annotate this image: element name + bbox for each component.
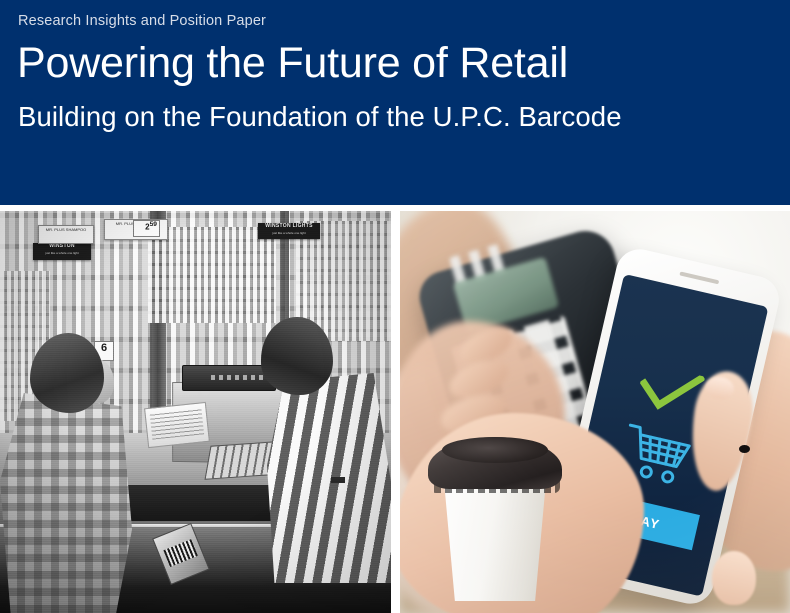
- header-banner: Research Insights and Position Paper Pow…: [0, 0, 790, 205]
- mobile-payment-photo-base: PAY: [400, 211, 790, 613]
- document-cover-page: Research Insights and Position Paper Pow…: [0, 0, 790, 613]
- cover-photo-strip: WINSTONjust like a whole one light WINST…: [0, 211, 790, 613]
- coffee-cup-sip-hole: [739, 445, 750, 453]
- phone-earpiece: [679, 271, 719, 284]
- clerk-hair: [261, 317, 333, 395]
- shopper-figure: [0, 393, 132, 613]
- eyebrow-label: Research Insights and Position Paper: [18, 13, 266, 29]
- cigarette-rack: [148, 227, 276, 323]
- receipt-paper: [144, 402, 210, 448]
- clerk-figure: [267, 373, 391, 583]
- vintage-photo-base: WINSTONjust like a whole one light WINST…: [0, 211, 391, 613]
- clerk-name-badge: [331, 477, 345, 483]
- photo-vintage-checkout: WINSTONjust like a whole one light WINST…: [0, 211, 391, 613]
- price-tag: 259: [133, 220, 160, 237]
- cup-holding-finger: [712, 551, 756, 605]
- coffee-cup-lid-top: [442, 437, 548, 463]
- sign-winston-lights-2: WINSTON LIGHTSjust like a whole one ligh…: [258, 223, 320, 239]
- sign-winston-lights: WINSTONjust like a whole one light: [33, 243, 91, 260]
- photo-mobile-payment: PAY: [400, 211, 790, 613]
- page-title: Powering the Future of Retail: [17, 40, 568, 87]
- sign-shampoo-left: MR. PLUS SHAMPOO: [38, 225, 94, 244]
- shopper-hair: [30, 333, 104, 413]
- page-subtitle: Building on the Foundation of the U.P.C.…: [18, 101, 622, 133]
